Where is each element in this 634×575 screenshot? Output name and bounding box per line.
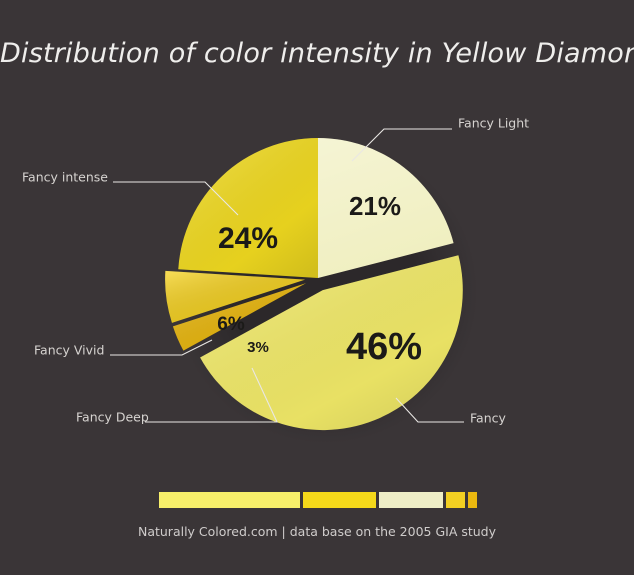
footer-source-text: Naturally Colored.com | data base on the…: [0, 524, 634, 539]
legend-segment-fancy-intense[interactable]: [303, 492, 376, 508]
legend-segment-fancy-light[interactable]: [379, 492, 443, 508]
legend-segment-fancy[interactable]: [159, 492, 300, 508]
legend-segment-fancy-vivid[interactable]: [446, 492, 464, 508]
slice-percent-label: 6%: [217, 314, 245, 335]
legend-segment-fancy-deep[interactable]: [468, 492, 477, 508]
slice-label-fancy-vivid: Fancy Vivid: [34, 343, 104, 358]
slice-percent-label: 46%: [346, 326, 422, 368]
pie-slice-sheen: [178, 138, 318, 278]
slice-percent-label: 3%: [247, 339, 269, 356]
infographic-canvas: Distribution of color intensity in Yello…: [0, 0, 634, 575]
slice-percent-label: 24%: [218, 222, 278, 255]
pie-chart: 21%46%3%6%24% Fancy LightFancyFancy Deep…: [0, 0, 634, 575]
slice-label-fancy-light: Fancy Light: [458, 116, 529, 131]
slice-label-fancy-deep: Fancy Deep: [76, 410, 149, 425]
slice-label-fancy-intense: Fancy intense: [22, 170, 108, 185]
legend-color-bar: [159, 492, 477, 508]
slice-percent-label: 21%: [349, 191, 401, 221]
slice-label-fancy: Fancy: [470, 411, 506, 426]
